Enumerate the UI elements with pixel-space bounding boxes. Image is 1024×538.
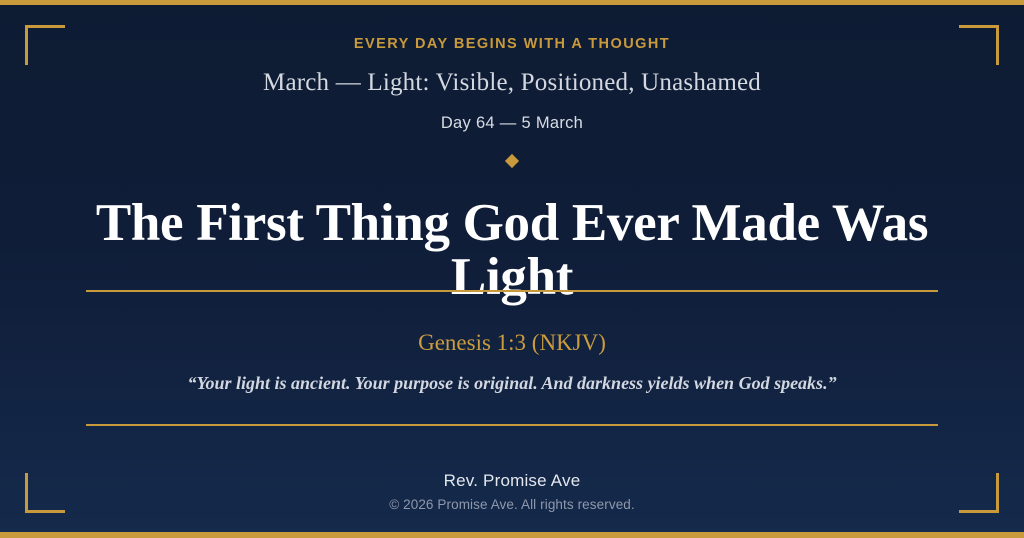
kicker-text: EVERY DAY BEGINS WITH A THOUGHT (0, 36, 1024, 52)
card-content: EVERY DAY BEGINS WITH A THOUGHT March — … (0, 0, 1024, 538)
page-title: The First Thing God Ever Made Was Light (60, 196, 964, 304)
scripture-reference: Genesis 1:3 (NKJV) (0, 330, 1024, 356)
quote-text: “Your light is ancient. Your purpose is … (180, 371, 844, 396)
quote-divider (86, 424, 938, 426)
devotional-card: EVERY DAY BEGINS WITH A THOUGHT March — … (0, 0, 1024, 538)
diamond-ornament-icon (505, 154, 519, 168)
author-name: Rev. Promise Ave (0, 471, 1024, 491)
series-title: March — Light: Visible, Positioned, Unas… (0, 69, 1024, 97)
copyright-text: © 2026 Promise Ave. All rights reserved. (0, 497, 1024, 512)
day-line: Day 64 — 5 March (0, 114, 1024, 133)
title-divider (86, 290, 938, 292)
